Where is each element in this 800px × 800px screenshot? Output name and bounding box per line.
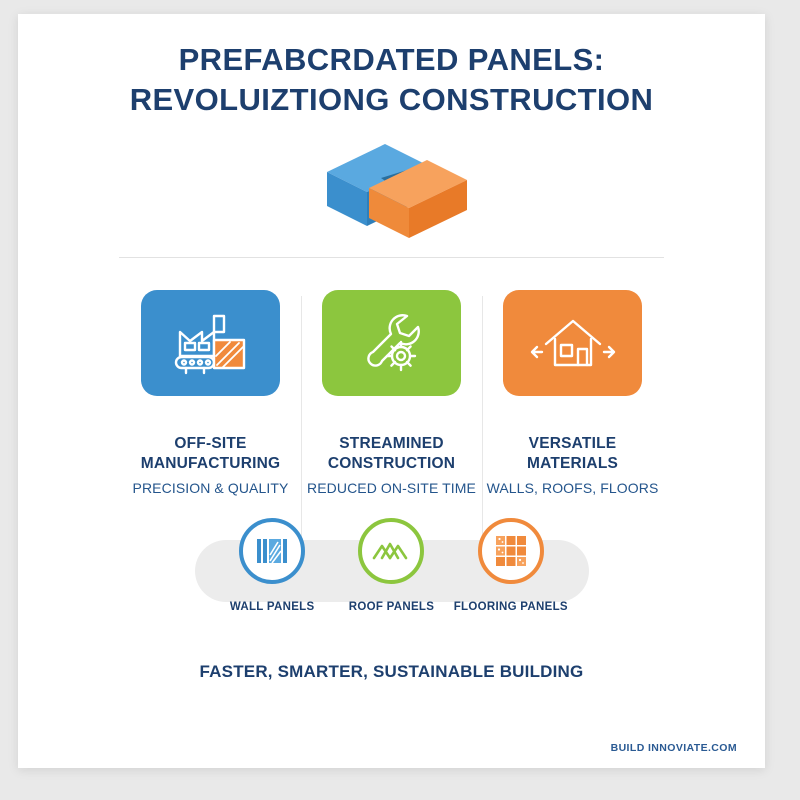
panel-type-label: ROOF PANELS: [349, 601, 435, 613]
hero-divider: [119, 257, 664, 258]
panel-type-label: WALL PANELS: [230, 601, 315, 613]
panel-type-wall-panels[interactable]: WALL PANELS: [216, 518, 328, 613]
feature-title: OFF-SITE MANUFACTURING: [141, 434, 281, 474]
brand-mark: BUILD INNOVIATE.COM: [611, 742, 737, 754]
feature-title-line-1: OFF-SITE: [141, 434, 281, 454]
feature-icon-tile: [322, 290, 461, 396]
feature-icon-tile: [503, 290, 642, 396]
feature-title-line-1: VERSATILE: [527, 434, 618, 454]
feature-subtitle: WALLS, ROOFS, FLOORS: [487, 480, 659, 496]
feature-icon-tile: [141, 290, 280, 396]
feature-title: VERSATILE MATERIALS: [527, 434, 618, 474]
panel-type-roof-panels[interactable]: ROOF PANELS: [335, 518, 447, 613]
panel-types-pill: WALL PANELS ROOF PANELS: [195, 540, 589, 602]
wrench-gear-icon: [355, 310, 429, 376]
feature-title-line-2: CONSTRUCTION: [328, 454, 455, 474]
feature-card-streamlined-construction[interactable]: STREAMINED CONSTRUCTION REDUCED ON-SITE …: [301, 290, 482, 496]
factory-conveyor-icon: [170, 310, 252, 376]
feature-card-off-site-manufacturing[interactable]: OFF-SITE MANUFACTURING PRECISION & QUALI…: [120, 290, 301, 496]
flooring-panel-icon: [493, 533, 529, 569]
feature-title-line-2: MATERIALS: [527, 454, 618, 474]
isometric-blocks-icon: [307, 128, 477, 240]
feature-subtitle: PRECISION & QUALITY: [133, 480, 289, 496]
wall-panel-icon: [254, 533, 290, 569]
feature-title-line-2: MANUFACTURING: [141, 454, 281, 474]
title-line-2: REVOLUIZTIONG CONSTRUCTION: [18, 80, 765, 120]
panel-type-label: FLOORING PANELS: [454, 601, 568, 613]
panel-types-badges: WALL PANELS ROOF PANELS: [195, 518, 589, 613]
badge-ring: [358, 518, 424, 584]
page-title: PREFABCRDATED PANELS: REVOLUIZTIONG CONS…: [18, 14, 765, 121]
roof-panel-icon: [371, 536, 411, 566]
infographic-poster: PREFABCRDATED PANELS: REVOLUIZTIONG CONS…: [18, 14, 765, 768]
panel-type-flooring-panels[interactable]: FLOORING PANELS: [455, 518, 567, 613]
footer-tagline: FASTER, SMARTER, SUSTAINABLE BUILDING: [18, 662, 765, 682]
hero-illustration: [18, 125, 765, 243]
title-line-1: PREFABCRDATED PANELS:: [18, 40, 765, 80]
house-expand-icon: [528, 312, 618, 374]
badge-ring: [239, 518, 305, 584]
panel-types-section: WALL PANELS ROOF PANELS: [18, 540, 765, 602]
badge-ring: [478, 518, 544, 584]
feature-title: STREAMINED CONSTRUCTION: [328, 434, 455, 474]
feature-card-versatile-materials[interactable]: VERSATILE MATERIALS WALLS, ROOFS, FLOORS: [482, 290, 663, 496]
feature-columns: OFF-SITE MANUFACTURING PRECISION & QUALI…: [18, 290, 765, 496]
feature-subtitle: REDUCED ON-SITE TIME: [307, 480, 476, 496]
feature-title-line-1: STREAMINED: [328, 434, 455, 454]
